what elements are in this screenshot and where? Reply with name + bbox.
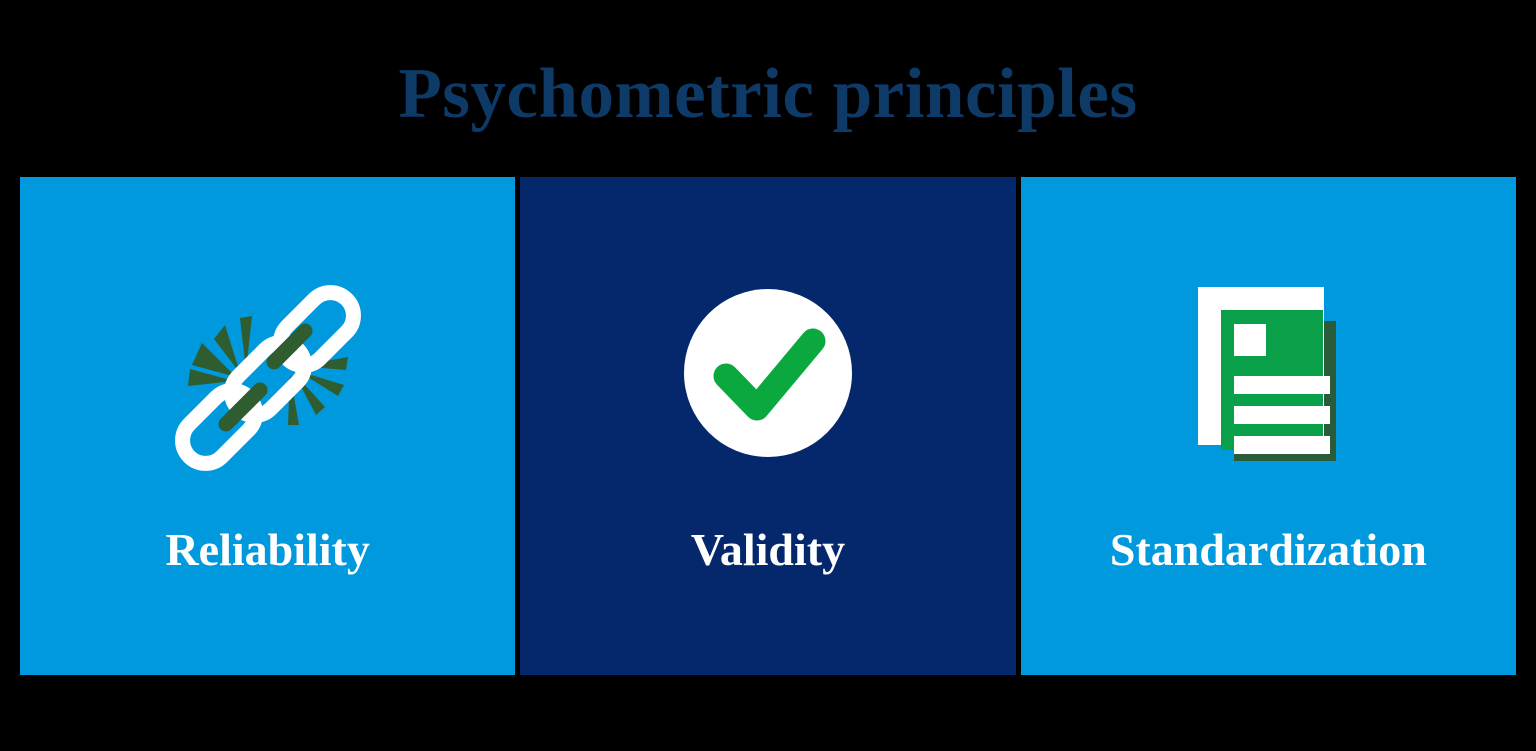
card-label: Validity: [520, 522, 1015, 578]
card-reliability[interactable]: Reliability: [20, 177, 515, 675]
broken-chain-icon: [168, 273, 368, 473]
slide-canvas: Psychometric principles: [0, 0, 1536, 751]
card-label: Standardization: [1021, 522, 1516, 578]
check-circle-icon: [668, 273, 868, 473]
page-title: Psychometric principles: [0, 52, 1536, 136]
card-label: Reliability: [20, 522, 515, 578]
principles-card-row: Reliability Validity: [20, 177, 1516, 675]
documents-icon: [1168, 273, 1368, 473]
card-validity[interactable]: Validity: [520, 177, 1015, 675]
card-standardization[interactable]: Standardization: [1021, 177, 1516, 675]
